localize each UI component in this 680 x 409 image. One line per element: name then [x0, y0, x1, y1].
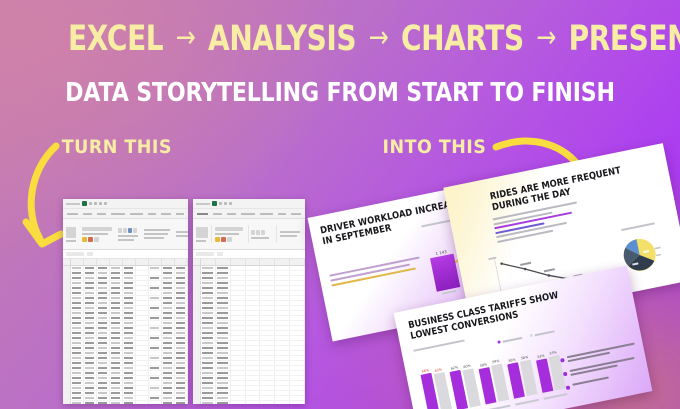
excel-cell[interactable] — [84, 316, 97, 320]
excel-cell[interactable] — [136, 326, 149, 330]
excel-cell[interactable] — [136, 356, 149, 360]
excel-cell[interactable] — [84, 376, 97, 380]
excel-cell[interactable] — [231, 306, 246, 310]
excel-cell[interactable] — [123, 346, 136, 350]
excel-cell[interactable] — [175, 311, 188, 315]
excel-formula-bar[interactable] — [63, 250, 188, 259]
excel-cell[interactable] — [71, 311, 84, 315]
excel-cell[interactable] — [162, 331, 175, 335]
excel-cell[interactable] — [71, 356, 84, 360]
excel-cell[interactable] — [162, 356, 175, 360]
excel-cell[interactable] — [175, 351, 188, 355]
excel-cell[interactable] — [231, 381, 246, 385]
excel-cell[interactable] — [290, 361, 305, 365]
excel-cell[interactable] — [275, 316, 290, 320]
excel-cell[interactable] — [136, 336, 149, 340]
excel-cell[interactable] — [175, 356, 188, 360]
excel-cell[interactable] — [162, 311, 175, 315]
excel-cell[interactable] — [201, 366, 216, 370]
excel-cell[interactable] — [260, 336, 275, 340]
excel-cell[interactable] — [84, 356, 97, 360]
excel-cell[interactable] — [97, 331, 110, 335]
excel-cell[interactable] — [136, 401, 149, 404]
excel-cell[interactable] — [246, 286, 261, 290]
excel-cell[interactable] — [110, 311, 123, 315]
excel-cell[interactable] — [97, 381, 110, 385]
excel-cell[interactable] — [162, 401, 175, 404]
excel-cell[interactable] — [216, 386, 231, 390]
excel-cell[interactable] — [231, 296, 246, 300]
excel-cell[interactable] — [123, 386, 136, 390]
excel-cell[interactable] — [290, 326, 305, 330]
excel-cell[interactable] — [84, 366, 97, 370]
excel-cell[interactable] — [260, 356, 275, 360]
excel-cell[interactable] — [246, 396, 261, 400]
excel-cell[interactable] — [246, 306, 261, 310]
excel-cell[interactable] — [231, 366, 246, 370]
excel-cell[interactable] — [149, 326, 162, 330]
excel-cell[interactable] — [175, 326, 188, 330]
excel-fx-icon[interactable] — [87, 252, 93, 256]
excel-more-icon[interactable] — [104, 202, 107, 205]
excel-cell[interactable] — [110, 321, 123, 325]
excel-cell[interactable] — [260, 346, 275, 350]
excel-cell[interactable] — [275, 281, 290, 285]
excel-cell[interactable] — [110, 366, 123, 370]
excel-cell[interactable] — [97, 276, 110, 280]
excel-cell[interactable] — [162, 276, 175, 280]
excel-cell[interactable] — [149, 266, 162, 270]
excel-cell[interactable] — [275, 391, 290, 395]
excel-cell[interactable] — [246, 351, 261, 355]
excel-cell[interactable] — [231, 276, 246, 280]
excel-cell[interactable] — [136, 296, 149, 300]
excel2-tab-formulas[interactable] — [260, 213, 273, 215]
excel-cell[interactable] — [260, 266, 275, 270]
excel-cell[interactable] — [201, 376, 216, 380]
excel-cell[interactable] — [231, 326, 246, 330]
excel-cell[interactable] — [275, 346, 290, 350]
excel-cell[interactable] — [275, 311, 290, 315]
excel-cell[interactable] — [123, 361, 136, 365]
excel-cell[interactable] — [162, 341, 175, 345]
excel-cell[interactable] — [136, 301, 149, 305]
excel-cell[interactable] — [84, 341, 97, 345]
excel-cell[interactable] — [84, 391, 97, 395]
excel-cell[interactable] — [216, 271, 231, 275]
excel-cell[interactable] — [149, 361, 162, 365]
excel-cell[interactable] — [162, 386, 175, 390]
excel-cell[interactable] — [71, 391, 84, 395]
excel-cell[interactable] — [290, 311, 305, 315]
excel-cell[interactable] — [149, 301, 162, 305]
excel-cell[interactable] — [123, 336, 136, 340]
excel-cell[interactable] — [260, 391, 275, 395]
excel-cell[interactable] — [71, 291, 84, 295]
excel2-tab-insert[interactable] — [227, 213, 236, 215]
excel-cell[interactable] — [260, 396, 275, 400]
excel-cell[interactable] — [201, 356, 216, 360]
excel-cell[interactable] — [97, 281, 110, 285]
excel-cell[interactable] — [71, 381, 84, 385]
excel-cell[interactable] — [290, 391, 305, 395]
excel2-tab-file[interactable] — [197, 213, 208, 215]
excel-cell[interactable] — [97, 351, 110, 355]
excel-cell[interactable] — [162, 366, 175, 370]
excel-cell[interactable] — [290, 401, 305, 404]
excel-cell[interactable] — [97, 356, 110, 360]
excel-cell[interactable] — [84, 271, 97, 275]
excel-cell[interactable] — [97, 321, 110, 325]
excel-cell[interactable] — [149, 341, 162, 345]
excel-window-dense[interactable] — [63, 199, 188, 404]
excel-cell[interactable] — [246, 336, 261, 340]
excel-cell[interactable] — [260, 301, 275, 305]
excel-cell[interactable] — [260, 306, 275, 310]
excel-cell[interactable] — [275, 301, 290, 305]
excel-cell[interactable] — [123, 296, 136, 300]
excel-cell[interactable] — [84, 286, 97, 290]
excel-column-headers[interactable] — [63, 259, 188, 266]
excel-cell[interactable] — [175, 301, 188, 305]
excel-cell[interactable] — [290, 336, 305, 340]
excel-cell[interactable] — [201, 346, 216, 350]
excel-cell[interactable] — [71, 301, 84, 305]
excel-cell[interactable] — [97, 316, 110, 320]
excel-cell[interactable] — [260, 286, 275, 290]
excel-cell[interactable] — [290, 301, 305, 305]
excel-cell[interactable] — [123, 396, 136, 400]
excel-cell[interactable] — [201, 296, 216, 300]
excel-cell[interactable] — [175, 376, 188, 380]
excel-cell[interactable] — [201, 371, 216, 375]
excel-cell[interactable] — [110, 391, 123, 395]
excel-cell[interactable] — [123, 306, 136, 310]
excel-cell[interactable] — [123, 356, 136, 360]
excel-cell[interactable] — [246, 346, 261, 350]
excel-cell[interactable] — [162, 271, 175, 275]
excel-cell[interactable] — [275, 336, 290, 340]
excel-cell[interactable] — [97, 271, 110, 275]
excel-cell[interactable] — [216, 266, 231, 270]
excel-cell[interactable] — [84, 291, 97, 295]
excel-column-headers[interactable] — [193, 259, 305, 266]
excel-cell[interactable] — [97, 391, 110, 395]
excel-cell[interactable] — [123, 266, 136, 270]
excel-cell[interactable] — [216, 286, 231, 290]
excel-cell[interactable] — [216, 381, 231, 385]
excel-cell[interactable] — [136, 266, 149, 270]
excel-cell[interactable] — [275, 266, 290, 270]
excel-cell[interactable] — [84, 396, 97, 400]
excel-cell[interactable] — [71, 361, 84, 365]
excel-cell[interactable] — [71, 321, 84, 325]
excel-cell[interactable] — [97, 401, 110, 404]
excel-cell[interactable] — [162, 326, 175, 330]
excel-cell[interactable] — [201, 286, 216, 290]
excel-cell[interactable] — [110, 396, 123, 400]
excel-cell[interactable] — [136, 306, 149, 310]
excel-cell[interactable] — [110, 336, 123, 340]
excel-cell[interactable] — [216, 326, 231, 330]
excel-cell[interactable] — [110, 301, 123, 305]
excel-cell[interactable] — [84, 386, 97, 390]
excel-cell[interactable] — [110, 361, 123, 365]
excel-cell[interactable] — [162, 321, 175, 325]
excel-cell[interactable] — [275, 381, 290, 385]
excel-cell[interactable] — [260, 366, 275, 370]
excel-cell[interactable] — [97, 341, 110, 345]
excel-cell[interactable] — [149, 336, 162, 340]
excel-cell[interactable] — [246, 271, 261, 275]
excel-tab-view[interactable] — [176, 213, 184, 215]
excel-cell[interactable] — [231, 361, 246, 365]
excel-cell[interactable] — [84, 371, 97, 375]
excel-cell[interactable] — [110, 356, 123, 360]
excel-cell[interactable] — [162, 371, 175, 375]
excel-cell[interactable] — [149, 276, 162, 280]
excel-cell[interactable] — [201, 391, 216, 395]
excel-cell[interactable] — [290, 376, 305, 380]
excel-cell[interactable] — [97, 296, 110, 300]
excel-cell[interactable] — [201, 316, 216, 320]
excel-cell[interactable] — [231, 286, 246, 290]
excel2-redo-icon[interactable] — [224, 202, 227, 205]
excel-cell[interactable] — [290, 316, 305, 320]
excel-cell[interactable] — [260, 381, 275, 385]
excel-grid-sparse[interactable] — [193, 259, 305, 404]
excel-cell[interactable] — [246, 366, 261, 370]
excel-cell[interactable] — [136, 311, 149, 315]
excel-cell[interactable] — [231, 316, 246, 320]
excel-cell[interactable] — [275, 326, 290, 330]
excel-cell[interactable] — [231, 386, 246, 390]
excel-cell[interactable] — [110, 296, 123, 300]
excel-cell[interactable] — [260, 316, 275, 320]
excel-cell[interactable] — [162, 301, 175, 305]
excel-cell[interactable] — [260, 371, 275, 375]
excel2-save-icon[interactable] — [212, 201, 217, 206]
excel-cell[interactable] — [123, 371, 136, 375]
excel-cell[interactable] — [231, 376, 246, 380]
excel-cell[interactable] — [290, 276, 305, 280]
excel-cell[interactable] — [71, 286, 84, 290]
excel2-more-icon[interactable] — [229, 202, 232, 205]
excel-cell[interactable] — [136, 331, 149, 335]
excel-cell[interactable] — [260, 311, 275, 315]
excel-cell[interactable] — [136, 366, 149, 370]
excel-cell[interactable] — [231, 341, 246, 345]
excel-cell[interactable] — [231, 321, 246, 325]
excel-cell[interactable] — [149, 366, 162, 370]
excel-cell[interactable] — [216, 291, 231, 295]
excel-cell[interactable] — [290, 341, 305, 345]
excel-styles-group[interactable] — [144, 229, 170, 239]
excel-cell[interactable] — [110, 276, 123, 280]
excel-cell[interactable] — [71, 346, 84, 350]
excel-cell[interactable] — [231, 351, 246, 355]
excel-cell[interactable] — [201, 326, 216, 330]
excel-cell[interactable] — [290, 291, 305, 295]
excel-cell[interactable] — [84, 401, 97, 404]
excel-cell[interactable] — [275, 321, 290, 325]
excel-cell[interactable] — [201, 361, 216, 365]
excel-cell[interactable] — [290, 271, 305, 275]
excel-cell[interactable] — [175, 316, 188, 320]
excel-cell[interactable] — [231, 401, 246, 404]
excel-cell[interactable] — [84, 276, 97, 280]
excel-cell[interactable] — [123, 351, 136, 355]
excel-cell[interactable] — [216, 301, 231, 305]
excel-cell[interactable] — [162, 336, 175, 340]
excel-cell[interactable] — [201, 331, 216, 335]
excel-tab-insert[interactable] — [97, 213, 106, 215]
excel-cell[interactable] — [71, 351, 84, 355]
excel-cell[interactable] — [275, 296, 290, 300]
excel-cell[interactable] — [110, 306, 123, 310]
excel-cell[interactable] — [149, 331, 162, 335]
excel-cell[interactable] — [110, 401, 123, 404]
excel-cell[interactable] — [246, 376, 261, 380]
excel-cell[interactable] — [290, 331, 305, 335]
excel-cell[interactable] — [97, 366, 110, 370]
excel-cell[interactable] — [275, 396, 290, 400]
excel-cell[interactable] — [136, 381, 149, 385]
excel-redo-icon[interactable] — [94, 202, 97, 205]
excel-cell[interactable] — [260, 341, 275, 345]
excel-cell[interactable] — [149, 386, 162, 390]
excel-customize-icon[interactable] — [99, 202, 102, 205]
excel-cell[interactable] — [149, 371, 162, 375]
excel-cell[interactable] — [84, 296, 97, 300]
excel-cell[interactable] — [162, 306, 175, 310]
excel-cell[interactable] — [246, 361, 261, 365]
excel-cell[interactable] — [290, 281, 305, 285]
excel-cell[interactable] — [149, 296, 162, 300]
excel-cell[interactable] — [162, 296, 175, 300]
excel-cell[interactable] — [71, 401, 84, 404]
excel-cell[interactable] — [275, 276, 290, 280]
excel-cell[interactable] — [201, 301, 216, 305]
excel-cell[interactable] — [136, 316, 149, 320]
excel-cell[interactable] — [123, 341, 136, 345]
excel-editing-group[interactable] — [176, 231, 188, 237]
excel-cell[interactable] — [123, 321, 136, 325]
excel-cell[interactable] — [162, 391, 175, 395]
excel-cell[interactable] — [216, 361, 231, 365]
excel-cell[interactable] — [275, 286, 290, 290]
excel-cell[interactable] — [290, 321, 305, 325]
excel-cell[interactable] — [136, 286, 149, 290]
excel-row[interactable] — [193, 401, 305, 404]
excel-cell[interactable] — [175, 281, 188, 285]
excel-cell[interactable] — [231, 346, 246, 350]
excel-cell[interactable] — [290, 266, 305, 270]
excel-cell[interactable] — [231, 281, 246, 285]
excel-cell[interactable] — [290, 386, 305, 390]
excel-cell[interactable] — [149, 281, 162, 285]
excel2-tab-home[interactable] — [213, 213, 222, 215]
excel-cell[interactable] — [123, 291, 136, 295]
excel-tab-home[interactable] — [83, 213, 92, 215]
excel-window-sparse[interactable] — [193, 199, 305, 404]
excel-cell[interactable] — [216, 321, 231, 325]
excel-cell[interactable] — [275, 331, 290, 335]
excel-cell[interactable] — [97, 291, 110, 295]
excel-cell[interactable] — [149, 286, 162, 290]
excel-cell[interactable] — [290, 296, 305, 300]
excel-cell[interactable] — [97, 266, 110, 270]
excel-cell[interactable] — [290, 306, 305, 310]
excel-cell[interactable] — [201, 386, 216, 390]
excel-cell[interactable] — [110, 281, 123, 285]
excel-cell[interactable] — [216, 376, 231, 380]
excel-cell[interactable] — [175, 391, 188, 395]
excel2-ribbon[interactable] — [193, 219, 305, 250]
excel-cell[interactable] — [275, 271, 290, 275]
excel2-tab-page-layout[interactable] — [241, 213, 255, 215]
excel-tab-formulas[interactable] — [130, 213, 143, 215]
excel-cell[interactable] — [246, 321, 261, 325]
excel-cell[interactable] — [97, 326, 110, 330]
excel-cell[interactable] — [123, 326, 136, 330]
excel-cell[interactable] — [162, 346, 175, 350]
excel-cell[interactable] — [162, 351, 175, 355]
excel-cell[interactable] — [201, 306, 216, 310]
excel-cell[interactable] — [246, 386, 261, 390]
excel-cell[interactable] — [216, 366, 231, 370]
excel-cell[interactable] — [149, 356, 162, 360]
excel-cell[interactable] — [216, 331, 231, 335]
excel-cell[interactable] — [123, 391, 136, 395]
excel-cell[interactable] — [97, 371, 110, 375]
excel-cell[interactable] — [260, 361, 275, 365]
excel-cell[interactable] — [149, 351, 162, 355]
excel-cell[interactable] — [149, 401, 162, 404]
excel2-font-group[interactable] — [215, 227, 245, 242]
excel-cell[interactable] — [136, 396, 149, 400]
excel-cell[interactable] — [275, 341, 290, 345]
excel-cell[interactable] — [260, 321, 275, 325]
excel-save-icon[interactable] — [82, 201, 87, 206]
excel-paste-group[interactable] — [66, 227, 76, 242]
excel-cell[interactable] — [110, 376, 123, 380]
excel2-tab-review[interactable] — [291, 213, 301, 215]
excel-cell[interactable] — [136, 386, 149, 390]
excel-cell[interactable] — [290, 286, 305, 290]
excel-cell[interactable] — [216, 276, 231, 280]
excel-cell[interactable] — [97, 386, 110, 390]
excel-cell[interactable] — [260, 401, 275, 404]
excel-cell[interactable] — [136, 376, 149, 380]
excel-cell[interactable] — [84, 266, 97, 270]
excel-cell[interactable] — [290, 346, 305, 350]
excel-cell[interactable] — [123, 316, 136, 320]
excel-cell[interactable] — [84, 306, 97, 310]
excel-cell[interactable] — [216, 316, 231, 320]
excel2-formula-bar[interactable] — [193, 250, 305, 259]
excel-cell[interactable] — [216, 281, 231, 285]
excel-cell[interactable] — [97, 346, 110, 350]
excel-cell[interactable] — [216, 346, 231, 350]
excel-cell[interactable] — [201, 336, 216, 340]
excel-cell[interactable] — [175, 366, 188, 370]
excel-cell[interactable] — [175, 386, 188, 390]
excel-cell[interactable] — [71, 386, 84, 390]
excel-cell[interactable] — [216, 356, 231, 360]
excel-cell[interactable] — [260, 276, 275, 280]
excel-cell[interactable] — [84, 346, 97, 350]
